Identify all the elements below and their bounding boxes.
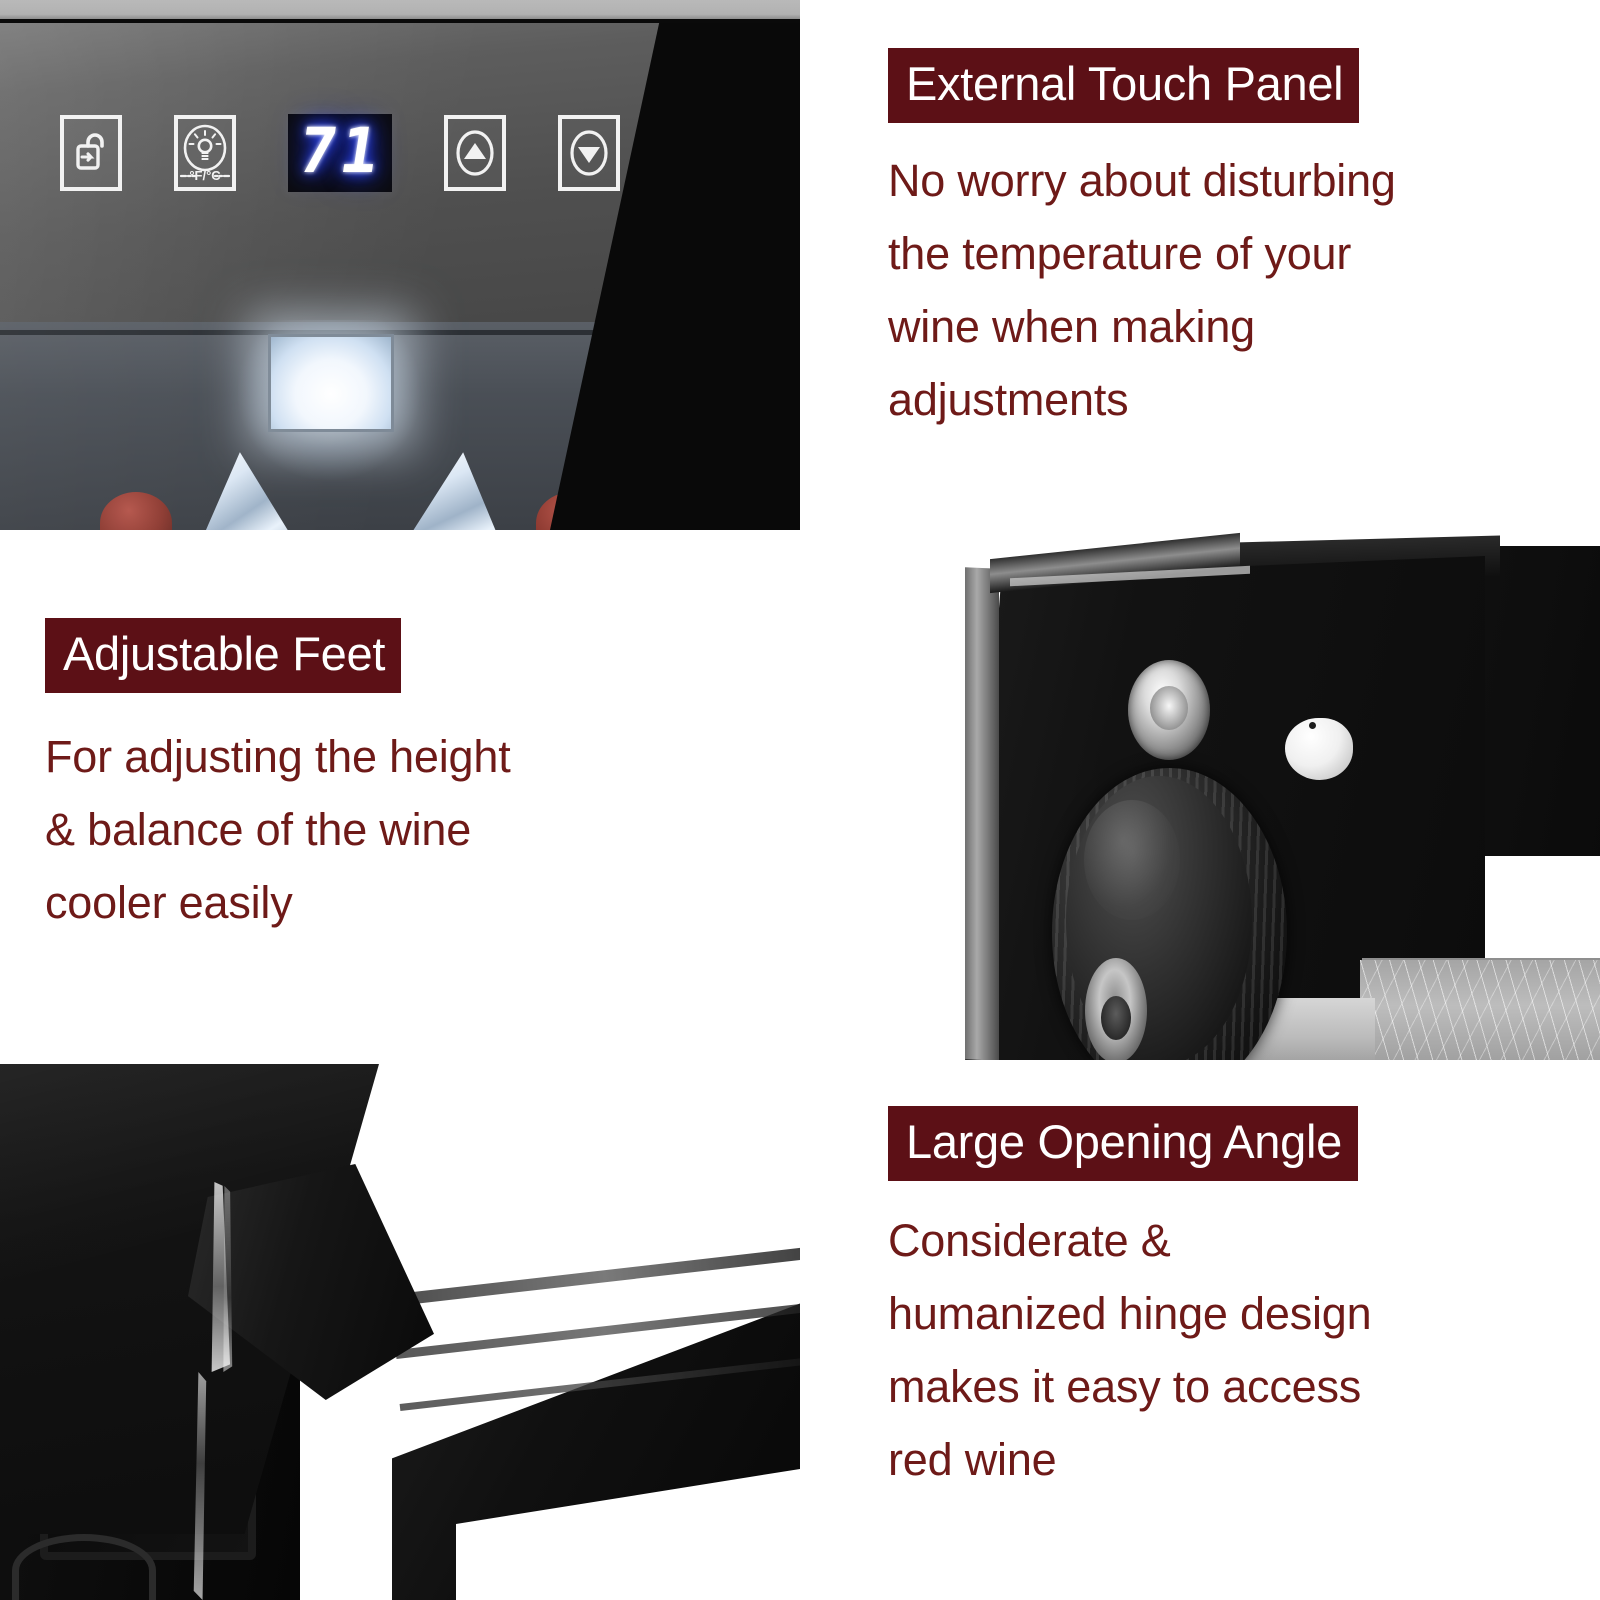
temperature-value: 71 xyxy=(293,120,386,186)
touch-key-row: °F/°C 71 xyxy=(60,114,620,192)
base-bracket-edge xyxy=(965,567,999,1060)
leveling-knob-highlight xyxy=(1084,800,1180,920)
arrow-up-icon xyxy=(453,126,497,180)
door-hinge-photo xyxy=(0,1064,800,1600)
feature-external-touch-panel: External Touch Panel No worry about dist… xyxy=(888,48,1588,437)
light-bulb-icon: °F/°C xyxy=(179,122,231,184)
touch-panel-photo: °F/°C 71 xyxy=(0,0,800,530)
lock-unlock-key[interactable] xyxy=(60,115,122,191)
unlocked-padlock-icon xyxy=(74,132,108,174)
feature-title: Adjustable Feet xyxy=(45,618,401,693)
feature-body: No worry about disturbing the temperatur… xyxy=(888,145,1588,437)
phillips-screw-icon xyxy=(1128,660,1210,760)
mounting-hole xyxy=(1085,958,1147,1060)
feature-title: Large Opening Angle xyxy=(888,1106,1358,1181)
feature-body: For adjusting the height & balance of th… xyxy=(45,721,805,940)
adjustable-foot-photo xyxy=(870,528,1600,1060)
interior-wire xyxy=(12,1534,156,1600)
temperature-up-key[interactable] xyxy=(444,115,506,191)
cabinet-top-strip xyxy=(0,0,800,19)
feature-body: Considerate & humanized hinge design mak… xyxy=(888,1205,1600,1497)
light-and-unit-key[interactable]: °F/°C xyxy=(174,115,236,191)
cabinet-top-seam xyxy=(0,19,800,23)
feature-large-opening-angle: Large Opening Angle Considerate & humani… xyxy=(888,1106,1600,1497)
feature-collage: °F/°C 71 xyxy=(0,0,1600,1600)
feature-title: External Touch Panel xyxy=(888,48,1359,123)
interior-lamp-icon xyxy=(268,334,394,432)
door-frame-ridge xyxy=(395,1246,800,1305)
white-sealant-blob xyxy=(1285,718,1353,780)
textured-metal-panel xyxy=(1360,960,1600,1060)
temperature-display: 71 xyxy=(288,114,392,192)
arrow-down-icon xyxy=(567,126,611,180)
unit-label: °F/°C xyxy=(189,168,221,183)
feature-adjustable-feet: Adjustable Feet For adjusting the height… xyxy=(45,618,805,940)
temperature-down-key[interactable] xyxy=(558,115,620,191)
